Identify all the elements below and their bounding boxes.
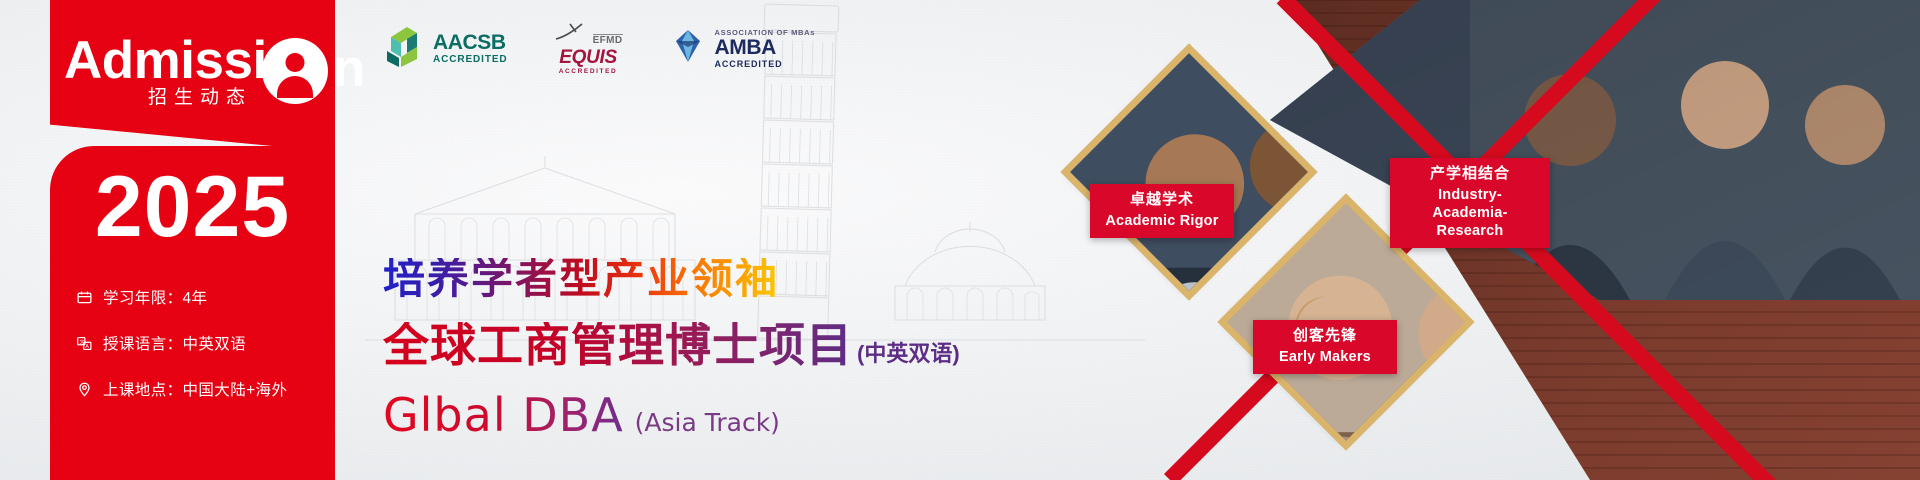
fact-item-location: 上课地点：中国大陆+海外 [76, 378, 326, 400]
label-academic-rigor: 卓越学术 Academic Rigor [1090, 184, 1234, 238]
fact-text: 授课语言：中英双语 [103, 332, 246, 354]
equis-name: EQUIS [559, 48, 617, 67]
label-cn: 产学相结合 [1404, 165, 1536, 184]
admission-logo: Admissi 招生动态 [64, 34, 322, 120]
left-red-panel: Admissi 招生动态 2025 学习年限：4年 [50, 0, 335, 480]
amba-accredited-label: ACCREDITED [715, 60, 816, 69]
label-en: Industry-Academia-Research [1404, 186, 1536, 240]
accreditation-amba: ASSOCIATION OF MBAs AMBA ACCREDITED [669, 27, 816, 70]
efmd-label: EFMD [593, 34, 623, 46]
fact-item-duration: 学习年限：4年 [76, 286, 326, 308]
svg-text:A: A [85, 344, 89, 350]
label-industry-academia: 产学相结合 Industry-Academia-Research [1390, 158, 1550, 248]
program-english-row: Glbal DBA (Asia Track) [383, 392, 780, 438]
program-title-row: 全球工商管理博士项目 (中英双语) [383, 322, 960, 368]
label-en: Academic Rigor [1104, 212, 1220, 230]
aacsb-accredited-label: ACCREDITED [433, 55, 508, 65]
label-en: Early Makers [1267, 348, 1383, 366]
equis-accredited-label: ACCREDITED [559, 69, 618, 76]
location-pin-icon [76, 381, 93, 398]
center-content: AACSB ACCREDITED EFMD E [335, 0, 1180, 480]
program-english-suffix: (Asia Track) [635, 408, 780, 437]
logo-chinese-label: 招生动态 [148, 82, 252, 109]
fact-text: 上课地点：中国大陆+海外 [103, 378, 287, 400]
amba-name: AMBA [715, 37, 816, 58]
calendar-icon [76, 289, 93, 306]
fact-text: 学习年限：4年 [103, 286, 207, 308]
aacsb-squares-icon [383, 25, 425, 72]
fact-item-language: 文 A 授课语言：中英双语 [76, 332, 326, 354]
equis-swoosh-icon [554, 22, 588, 46]
label-cn: 创客先锋 [1267, 327, 1383, 346]
amba-diamond-icon [669, 27, 707, 70]
label-cn: 卓越学术 [1104, 191, 1220, 210]
tagline: 培养学者型产业领袖 [383, 258, 779, 300]
accreditation-equis: EFMD EQUIS ACCREDITED [554, 22, 623, 76]
year-label: 2025 [50, 164, 335, 250]
program-english-title: Glbal DBA [383, 392, 624, 438]
admission-banner: Admissi 招生动态 2025 学习年限：4年 [0, 0, 1920, 480]
language-icon: 文 A [76, 335, 93, 352]
aacsb-name: AACSB [433, 32, 508, 53]
accreditation-logos: AACSB ACCREDITED EFMD E [383, 22, 815, 76]
program-title-suffix: (中英双语) [857, 343, 960, 365]
person-in-circle-icon [262, 38, 328, 104]
logo-wordmark: Admissi [64, 34, 267, 87]
accreditation-aacsb: AACSB ACCREDITED [383, 25, 508, 72]
label-early-makers: 创客先锋 Early Makers [1253, 320, 1397, 374]
program-facts-list: 学习年限：4年 文 A 授课语言：中英双语 [76, 286, 326, 424]
logo-wordmark-tail: n [333, 38, 365, 99]
program-title: 全球工商管理博士项目 [383, 322, 853, 368]
